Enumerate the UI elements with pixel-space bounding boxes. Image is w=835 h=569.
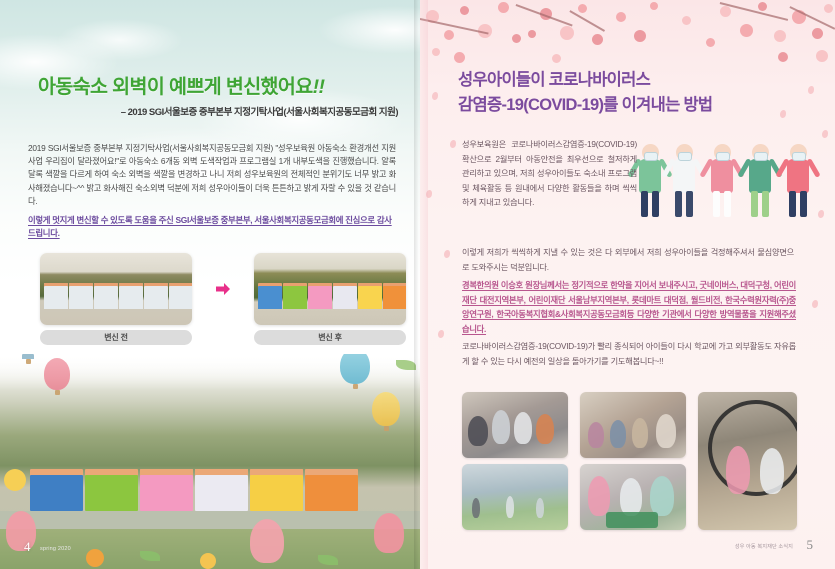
flower-pink-right-icon (374, 513, 404, 553)
falling-petal-icon (438, 330, 444, 338)
before-after-comparison: 변신 전 변신 후 (40, 253, 380, 345)
face-mask-icon (678, 152, 692, 161)
photo-grid (462, 392, 797, 530)
blossom-flower-icon (740, 24, 753, 37)
photo-indoor-blocks (580, 464, 686, 530)
falling-petal-icon (450, 140, 456, 148)
building-block (358, 283, 382, 309)
right-page-number: 5 (807, 537, 814, 553)
face-mask-icon (716, 152, 730, 161)
falling-petal-icon (432, 92, 438, 100)
falling-petal-icon (426, 190, 432, 198)
person-figure (635, 144, 665, 228)
family-with-masks-illustration (631, 128, 821, 234)
hero-building-block (30, 469, 83, 511)
right-paragraph-1: 성우보육원은 코로나바이러스감염증-19(COVID-19) 확산으로 2월부터… (462, 138, 637, 211)
person-legs (675, 191, 693, 219)
blossom-flower-icon (778, 52, 788, 62)
right-page-title: 성우아이들이 코로나바이러스 감염증-19(COVID-19)를 이겨내는 방법 (458, 68, 788, 118)
photo-outdoor-gathering (580, 392, 686, 458)
before-caption: 변신 전 (40, 330, 192, 345)
balloon-bird-icon (22, 354, 34, 359)
flower-yellow-icon (4, 469, 26, 491)
balloon-yellow-icon (372, 392, 400, 426)
blossom-flower-icon (616, 12, 626, 22)
blossom-flower-icon (592, 34, 603, 45)
building-block (283, 283, 307, 309)
building-block (333, 283, 357, 309)
left-page-thanks: 이렇게 멋지게 변신할 수 있도록 도움을 주신 SGI서울보증 중부본부, 서… (28, 214, 398, 241)
hero-building-block (195, 469, 248, 511)
blossom-flower-icon (560, 26, 574, 40)
blossom-flower-icon (682, 16, 691, 25)
blossom-flower-icon (460, 6, 469, 15)
person-body (749, 159, 771, 193)
left-page: 아동숙소 외벽이 예쁘게 변신했어요!! – 2019 SGI서울보증 중부본부… (0, 0, 420, 569)
after-item: 변신 후 (254, 253, 406, 345)
left-page-body: 2019 SGI서울보증 중부본부 지정기탁사업(서울사회복지공동모금회 지원)… (28, 142, 396, 210)
person-legs (641, 191, 659, 219)
hero-building-block (305, 469, 358, 511)
person-body (673, 159, 695, 193)
person-figure (745, 144, 775, 228)
person-body (787, 159, 809, 193)
flower-pink-large-icon (6, 511, 36, 551)
left-page-title-text: 아동숙소 외벽이 예쁘게 변신했어요 (38, 76, 313, 98)
blossom-flower-icon (758, 2, 767, 11)
person-body (711, 159, 733, 193)
face-mask-icon (792, 152, 806, 161)
blossom-branch-icon (420, 18, 489, 34)
blossom-flower-icon (528, 30, 536, 38)
falling-petal-icon (818, 210, 824, 218)
right-paragraph-2: 이렇게 저희가 씩씩하게 지낼 수 있는 것은 다 외부에서 저희 성우아이들을… (462, 246, 794, 275)
person-legs (751, 191, 769, 219)
hero-buildings (30, 469, 358, 511)
hero-building-block (140, 469, 193, 511)
falling-petal-icon (444, 250, 450, 258)
blossom-flower-icon (792, 10, 806, 24)
blossom-flower-icon (578, 4, 587, 13)
blossom-flower-icon (824, 4, 833, 13)
magazine-spread: 아동숙소 외벽이 예쁘게 변신했어요!! – 2019 SGI서울보증 중부본부… (0, 0, 835, 569)
building-block (258, 283, 282, 309)
before-buildings (44, 283, 192, 309)
photo-playground-swing (698, 392, 797, 530)
hero-illustration (0, 354, 420, 569)
person-figure (707, 144, 737, 228)
blossom-flower-icon (444, 30, 454, 40)
blossom-flower-icon (540, 8, 552, 20)
blossom-flower-icon (512, 34, 521, 43)
arrow-right-icon (216, 253, 230, 325)
left-page-subtitle: – 2019 SGI서울보증 중부본부 지정기탁사업(서울사회복지공동모금회 지… (121, 104, 398, 118)
left-page-title-exclaim: !! (313, 76, 325, 98)
left-page-footer: spring 2020 (40, 546, 71, 552)
after-caption: 변신 후 (254, 330, 406, 345)
right-paragraph-3: 코로나바이러스감염증-19(COVID-19)가 빨리 종식되어 아이들이 다시… (462, 340, 796, 369)
before-photo (40, 253, 192, 325)
face-mask-icon (754, 152, 768, 161)
person-legs (789, 191, 807, 219)
right-title-line1: 성우아이들이 코로나바이러스 (458, 68, 788, 93)
hero-building-block (250, 469, 303, 511)
person-body (639, 159, 661, 193)
cherry-blossom-decoration (420, 0, 835, 72)
blossom-branch-icon (720, 2, 788, 20)
blossom-flower-icon (720, 6, 731, 17)
falling-petal-icon (812, 300, 818, 308)
blossom-flower-icon (498, 2, 509, 13)
person-figure (783, 144, 813, 228)
blossom-flower-icon (432, 48, 440, 56)
blossom-flower-icon (650, 2, 658, 10)
after-photo (254, 253, 406, 325)
hero-building-block (85, 469, 138, 511)
blossom-branch-icon (516, 4, 573, 26)
flower-small-yellow-icon (200, 553, 216, 569)
blossom-flower-icon (816, 50, 828, 62)
building-block (308, 283, 332, 309)
balloon-pink-icon (44, 358, 70, 390)
blossom-flower-icon (478, 24, 492, 38)
after-buildings (258, 283, 406, 309)
person-legs (713, 191, 731, 219)
left-page-title: 아동숙소 외벽이 예쁘게 변신했어요!! (38, 70, 324, 99)
blossom-flower-icon (552, 54, 561, 63)
left-body-paragraph: 2019 SGI서울보증 중부본부 지정기탁사업(서울사회복지공동모금회 지원)… (28, 142, 396, 208)
blossom-flower-icon (426, 10, 439, 23)
blossom-flower-icon (634, 30, 646, 42)
flower-pink-icon (250, 519, 284, 563)
blossom-flower-icon (706, 38, 715, 47)
flower-orange-icon (86, 549, 104, 567)
photo-field-sports (462, 464, 568, 530)
right-title-line2: 감염증-19(COVID-19)를 이겨내는 방법 (458, 93, 788, 118)
right-page: 성우아이들이 코로나바이러스 감염증-19(COVID-19)를 이겨내는 방법… (420, 0, 835, 569)
blossom-flower-icon (454, 52, 465, 63)
blossom-branch-icon (790, 6, 835, 29)
left-page-number: 4 (24, 539, 31, 555)
blossom-flower-icon (774, 30, 786, 42)
blossom-branch-icon (570, 10, 605, 31)
person-figure (669, 144, 699, 228)
falling-petal-icon (822, 130, 828, 138)
balloon-blue-icon (340, 354, 370, 384)
right-page-footer: 성우 아동 복지재단 소식지 (735, 543, 793, 550)
right-highlight-text: 경복한의원 이승호 원장님께서는 정기적으로 한약을 지어서 보내주시고, 굿네… (462, 278, 796, 336)
face-mask-icon (644, 152, 658, 161)
photo-grid-row (462, 392, 797, 530)
photo-indoor-craft (462, 392, 568, 458)
before-item: 변신 전 (40, 253, 192, 345)
falling-petal-icon (808, 86, 814, 94)
blossom-flower-icon (812, 28, 823, 39)
building-block (383, 283, 406, 309)
